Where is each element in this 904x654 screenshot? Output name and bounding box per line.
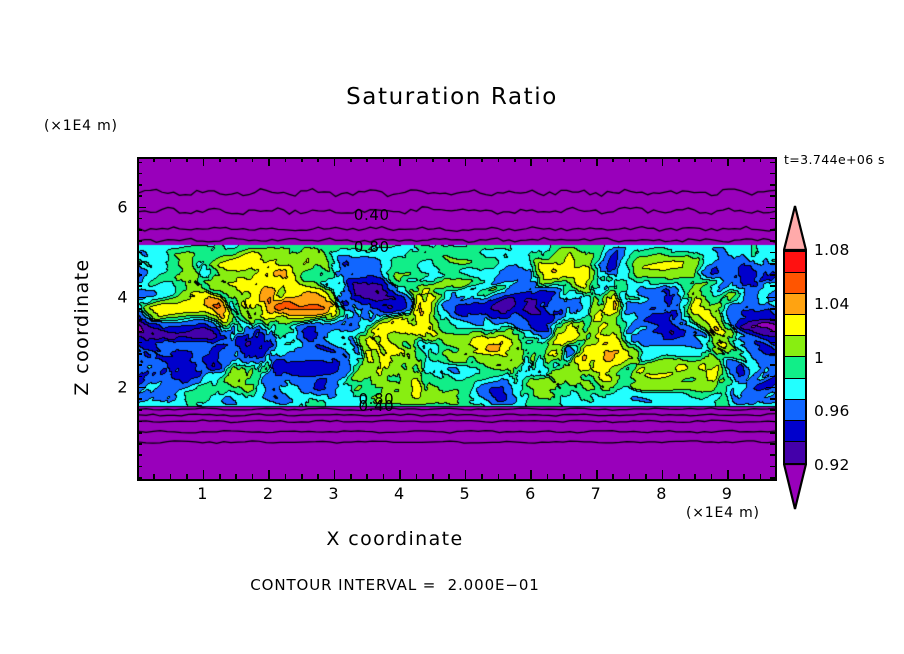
colorbar-top-arrow-icon: [783, 205, 807, 251]
y-tick-mark: [766, 387, 775, 389]
y-tick-mark: [137, 195, 142, 197]
colorbar-tick-label: 1.08: [814, 241, 850, 259]
colorbar-band: [785, 421, 805, 442]
x-tick-mark: [612, 157, 614, 162]
colorbar[interactable]: 1.081.0410.960.92: [780, 205, 810, 510]
x-tick-mark: [350, 157, 352, 162]
x-tick-mark: [465, 157, 467, 166]
y-tick-mark: [770, 252, 775, 254]
x-tick-mark: [383, 157, 385, 162]
x-tick-label: 7: [591, 484, 602, 503]
x-tick-mark: [612, 474, 614, 479]
x-tick-mark: [317, 157, 319, 162]
x-tick-label: 6: [525, 484, 536, 503]
y-tick-mark: [770, 229, 775, 231]
x-tick-mark: [760, 474, 762, 479]
y-tick-mark: [770, 173, 775, 175]
y-tick-mark: [770, 421, 775, 423]
y-tick-mark: [770, 263, 775, 265]
y-tick-mark: [770, 240, 775, 242]
y-axis-tick-labels: 246: [98, 0, 128, 654]
x-tick-mark: [219, 474, 221, 479]
y-tick-mark: [766, 207, 775, 209]
y-tick-mark: [137, 285, 142, 287]
x-tick-mark: [481, 474, 483, 479]
x-tick-mark: [235, 474, 237, 479]
contour-plot-area[interactable]: 0.400.800.800.40: [137, 157, 777, 481]
y-tick-label: 2: [117, 377, 128, 396]
y-tick-mark: [770, 432, 775, 434]
y-tick-mark: [137, 252, 142, 254]
x-tick-mark: [383, 474, 385, 479]
x-axis-title: X coordinate: [0, 528, 790, 550]
x-tick-mark: [743, 157, 745, 162]
x-tick-mark: [170, 157, 172, 162]
y-tick-mark: [137, 342, 142, 344]
y-tick-mark: [137, 229, 142, 231]
x-tick-mark: [203, 470, 205, 479]
x-tick-label: 3: [328, 484, 339, 503]
y-tick-mark: [770, 184, 775, 186]
colorbar-band: [785, 442, 805, 463]
x-tick-mark: [596, 157, 598, 166]
y-tick-mark: [137, 466, 142, 468]
y-tick-mark: [137, 218, 142, 220]
x-tick-mark: [366, 157, 368, 162]
y-tick-mark: [137, 364, 142, 366]
y-tick-mark: [770, 342, 775, 344]
y-tick-mark: [137, 477, 142, 479]
colorbar-tick-label: 0.96: [814, 402, 850, 420]
x-tick-mark: [465, 470, 467, 479]
x-tick-mark: [448, 157, 450, 162]
y-tick-mark: [137, 432, 142, 434]
contour-line-label: 0.40: [358, 397, 394, 415]
y-tick-mark: [770, 308, 775, 310]
y-tick-mark: [137, 184, 142, 186]
colorbar-bands: [783, 250, 807, 465]
x-tick-mark: [481, 157, 483, 162]
y-tick-mark: [137, 387, 146, 389]
y-axis-title: Z coordinate: [71, 237, 93, 417]
x-tick-mark: [530, 157, 532, 166]
x-tick-mark: [498, 474, 500, 479]
colorbar-tick-label: 1: [814, 349, 824, 367]
x-tick-mark: [252, 157, 254, 162]
x-tick-mark: [530, 470, 532, 479]
x-tick-mark: [694, 474, 696, 479]
x-tick-mark: [317, 474, 319, 479]
y-tick-mark: [770, 162, 775, 164]
colorbar-bottom-arrow-icon: [783, 463, 807, 510]
y-tick-mark: [137, 240, 142, 242]
y-tick-mark: [137, 274, 142, 276]
y-tick-mark: [766, 297, 775, 299]
x-tick-mark: [498, 157, 500, 162]
y-tick-mark: [770, 376, 775, 378]
y-tick-mark: [770, 285, 775, 287]
y-tick-mark: [137, 173, 142, 175]
x-tick-mark: [694, 157, 696, 162]
x-tick-label: 9: [722, 484, 733, 503]
x-tick-mark: [596, 470, 598, 479]
x-tick-mark: [678, 474, 680, 479]
contour-interval-note: CONTOUR INTERVAL = 2.000E−01: [0, 576, 790, 594]
colorbar-band: [785, 336, 805, 357]
x-tick-mark: [334, 157, 336, 166]
x-tick-mark: [301, 157, 303, 162]
x-tick-mark: [711, 474, 713, 479]
x-tick-mark: [547, 474, 549, 479]
colorbar-band: [785, 400, 805, 421]
y-tick-mark: [137, 376, 142, 378]
x-tick-mark: [285, 157, 287, 162]
y-tick-mark: [137, 353, 142, 355]
x-tick-mark: [268, 470, 270, 479]
x-tick-mark: [448, 474, 450, 479]
saturation-ratio-field: [139, 159, 775, 479]
y-tick-mark: [770, 466, 775, 468]
x-tick-mark: [416, 157, 418, 162]
x-tick-mark: [170, 474, 172, 479]
x-tick-mark: [219, 157, 221, 162]
x-tick-mark: [514, 157, 516, 162]
x-tick-mark: [301, 474, 303, 479]
x-tick-label: 2: [263, 484, 274, 503]
x-tick-mark: [629, 157, 631, 162]
contour-line-label: 0.80: [354, 238, 390, 256]
y-tick-mark: [770, 364, 775, 366]
y-tick-mark: [770, 454, 775, 456]
x-tick-mark: [662, 470, 664, 479]
y-tick-mark: [137, 331, 142, 333]
x-tick-mark: [514, 474, 516, 479]
y-tick-mark: [770, 195, 775, 197]
y-tick-mark: [770, 353, 775, 355]
x-tick-mark: [563, 474, 565, 479]
x-tick-mark: [645, 157, 647, 162]
x-tick-mark: [268, 157, 270, 166]
x-tick-mark: [580, 157, 582, 162]
x-tick-mark: [399, 470, 401, 479]
y-tick-mark: [770, 409, 775, 411]
y-tick-mark: [137, 398, 142, 400]
y-tick-mark: [770, 274, 775, 276]
time-annotation: t=3.744e+06 s: [784, 152, 885, 167]
colorbar-band: [785, 379, 805, 400]
colorbar-band: [785, 294, 805, 315]
x-tick-mark: [563, 157, 565, 162]
y-tick-mark: [137, 409, 142, 411]
y-tick-mark: [770, 477, 775, 479]
y-tick-mark: [770, 331, 775, 333]
colorbar-tick-label: 1.04: [814, 295, 850, 313]
page-title: Saturation Ratio: [0, 84, 904, 110]
x-tick-mark: [334, 470, 336, 479]
x-tick-mark: [285, 474, 287, 479]
x-tick-mark: [186, 157, 188, 162]
x-tick-mark: [629, 474, 631, 479]
x-tick-mark: [547, 157, 549, 162]
colorbar-band: [785, 273, 805, 294]
figure-root: Saturation Ratio (×1E4 m) t=3.744e+06 s …: [0, 0, 904, 654]
y-tick-mark: [137, 443, 142, 445]
y-tick-mark: [770, 443, 775, 445]
x-tick-mark: [727, 470, 729, 479]
y-tick-mark: [137, 421, 142, 423]
y-tick-mark: [137, 319, 142, 321]
contour-line-label: 0.40: [354, 206, 390, 224]
colorbar-band: [785, 315, 805, 336]
y-tick-mark: [770, 319, 775, 321]
x-tick-label: 1: [197, 484, 208, 503]
x-tick-mark: [432, 474, 434, 479]
x-tick-mark: [645, 474, 647, 479]
x-tick-mark: [186, 474, 188, 479]
y-tick-mark: [137, 297, 146, 299]
y-tick-mark: [137, 162, 142, 164]
x-tick-mark: [399, 157, 401, 166]
colorbar-band: [785, 357, 805, 378]
x-tick-mark: [153, 157, 155, 162]
x-tick-label: 8: [656, 484, 667, 503]
x-tick-mark: [153, 474, 155, 479]
x-tick-mark: [432, 157, 434, 162]
colorbar-tick-label: 0.92: [814, 456, 850, 474]
y-tick-mark: [137, 454, 142, 456]
x-tick-label: 4: [394, 484, 405, 503]
x-tick-mark: [760, 157, 762, 162]
x-tick-mark: [203, 157, 205, 166]
x-tick-mark: [366, 474, 368, 479]
x-tick-mark: [662, 157, 664, 166]
x-tick-mark: [252, 474, 254, 479]
y-tick-mark: [137, 308, 142, 310]
x-tick-mark: [678, 157, 680, 162]
x-tick-mark: [350, 474, 352, 479]
x-axis-unit-label: (×1E4 m): [686, 505, 760, 521]
y-tick-mark: [137, 263, 142, 265]
x-tick-label: 5: [460, 484, 471, 503]
x-tick-mark: [580, 474, 582, 479]
y-tick-label: 4: [117, 287, 128, 306]
x-tick-mark: [711, 157, 713, 162]
x-tick-mark: [416, 474, 418, 479]
x-tick-mark: [743, 474, 745, 479]
y-tick-mark: [770, 398, 775, 400]
x-tick-mark: [727, 157, 729, 166]
colorbar-band: [785, 252, 805, 273]
y-tick-label: 6: [117, 197, 128, 216]
y-tick-mark: [137, 207, 146, 209]
x-tick-mark: [235, 157, 237, 162]
y-tick-mark: [770, 218, 775, 220]
